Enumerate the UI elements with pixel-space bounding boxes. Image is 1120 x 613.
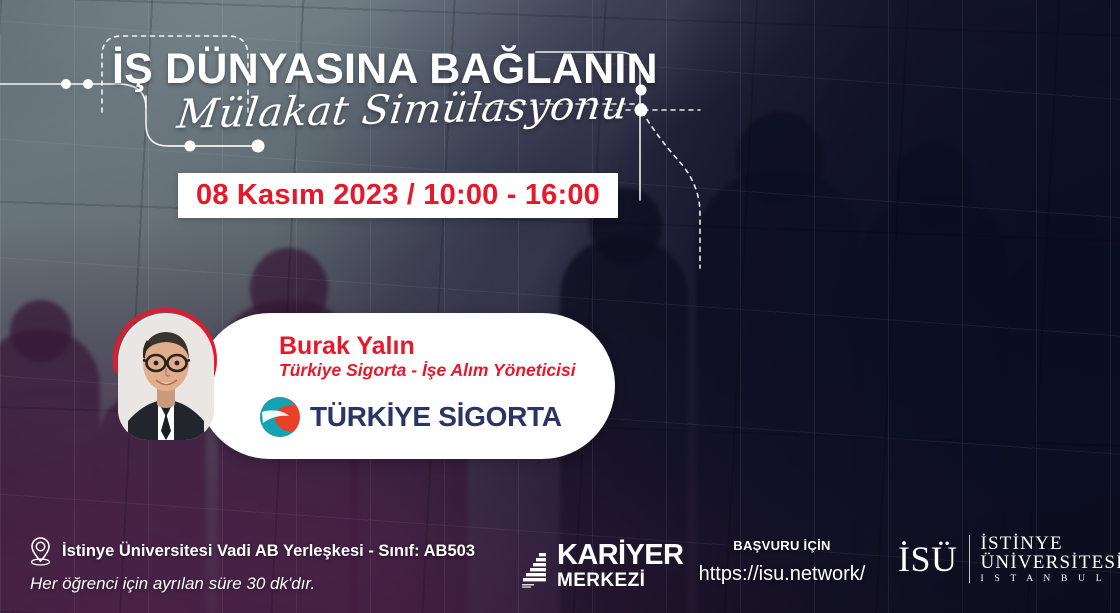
company-logo: TÜRKİYE SİGORTA <box>259 396 562 438</box>
career-center-line2: MERKEZİ <box>557 571 683 590</box>
portrait-illustration-icon <box>118 313 214 440</box>
date-time-text: 08 Kasım 2023 / 10:00 - 16:00 <box>196 180 600 210</box>
apply-label: BAŞVURU İÇİN <box>682 538 882 553</box>
portrait-photo-clip <box>118 313 214 440</box>
university-mark: İSÜ <box>898 541 958 577</box>
apply-url-link[interactable]: https://isu.network/ <box>682 563 882 586</box>
career-center-line1: KARİYER <box>557 541 683 570</box>
speaker-name: Burak Yalın <box>279 333 609 360</box>
speaker-role: Türkiye Sigorta - İşe Alım Yöneticisi <box>279 360 609 380</box>
university-logo: İSÜ İSTİNYE ÜNİVERSİTESİ I S T A N B U L <box>898 534 1120 584</box>
speaker-card: Burak Yalın Türkiye Sigorta - İşe Alım Y… <box>197 313 615 459</box>
speaker-portrait <box>115 308 220 440</box>
map-pin-icon <box>28 536 53 566</box>
location-row: İstinye Üniversitesi Vadi AB Yerleşkesi … <box>28 536 475 566</box>
headline-block: İŞ DÜNYASINA BAĞLANIN Mülakat Simülasyon… <box>112 48 672 91</box>
company-name: TÜRKİYE SİGORTA <box>310 401 562 433</box>
turkiye-sigorta-mark-icon <box>259 396 301 438</box>
stepped-bars-icon <box>520 548 550 590</box>
university-line3: I S T A N B U L <box>981 575 1120 585</box>
apply-block: BAŞVURU İÇİN https://isu.network/ <box>682 538 882 586</box>
duration-note: Her öğrenci için ayrılan süre 30 dk'dır. <box>30 574 315 594</box>
frame-dot <box>185 141 196 152</box>
career-center-wordmark: KARİYER MERKEZİ <box>557 541 683 590</box>
date-time-banner: 08 Kasım 2023 / 10:00 - 16:00 <box>178 173 618 218</box>
university-line2: ÜNİVERSİTESİ <box>981 553 1120 572</box>
university-line1: İSTİNYE <box>981 534 1120 553</box>
career-center-logo: KARİYER MERKEZİ <box>520 541 683 590</box>
frame-dot <box>252 140 265 153</box>
event-poster: İŞ DÜNYASINA BAĞLANIN Mülakat Simülasyon… <box>0 0 1120 613</box>
logo-divider <box>969 535 970 583</box>
university-wordmark: İSTİNYE ÜNİVERSİTESİ I S T A N B U L <box>981 534 1120 584</box>
frame-dot <box>635 104 648 117</box>
frame-dot <box>61 79 71 89</box>
frame-dot <box>83 79 93 89</box>
speaker-text-block: Burak Yalın Türkiye Sigorta - İşe Alım Y… <box>279 333 609 380</box>
location-text: İstinye Üniversitesi Vadi AB Yerleşkesi … <box>62 542 475 561</box>
poster-subheadline: Mülakat Simülasyonu <box>175 82 631 137</box>
